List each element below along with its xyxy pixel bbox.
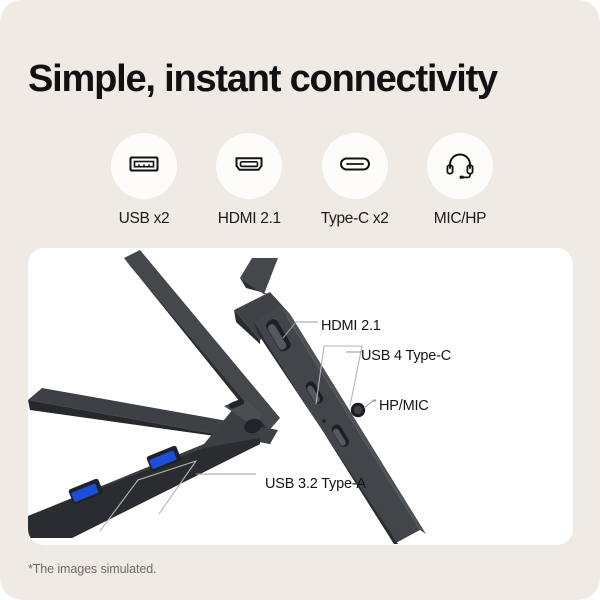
callout-label-hdmi: HDMI 2.1 xyxy=(321,318,381,334)
callout-label-usba: USB 3.2 Type-A xyxy=(265,476,366,492)
callout-label-hpmic: HP/MIC xyxy=(379,398,429,414)
laptop-left xyxy=(28,250,280,538)
feature-typec: Type-C x2 xyxy=(307,133,403,228)
feature-label-typec: Type-C x2 xyxy=(321,210,389,228)
product-photo-card xyxy=(28,248,573,545)
footnote-text: *The images simulated. xyxy=(28,562,156,576)
feature-michp: MIC/HP xyxy=(412,133,508,228)
laptop-ports-illustration xyxy=(28,248,573,545)
usb-c-port-icon xyxy=(335,144,375,189)
callout-label-usbc: USB 4 Type-C xyxy=(361,348,451,364)
headset-icon xyxy=(440,144,480,189)
feature-badge-usb xyxy=(111,133,177,199)
headphone-jack xyxy=(351,403,365,417)
feature-label-michp: MIC/HP xyxy=(434,210,486,228)
page-title: Simple, instant connectivity xyxy=(28,56,497,102)
feature-badge-michp xyxy=(427,133,493,199)
promo-page: Simple, instant connectivity USB x2 xyxy=(0,0,600,600)
usb-a-port-icon xyxy=(124,144,164,189)
feature-usb: USB x2 xyxy=(96,133,192,228)
feature-label-usb: USB x2 xyxy=(119,210,170,228)
feature-icon-row: USB x2 HDMI 2.1 xyxy=(96,133,508,228)
feature-hdmi: HDMI 2.1 xyxy=(201,133,297,228)
hdmi-port-icon xyxy=(229,144,269,189)
feature-badge-hdmi xyxy=(216,133,282,199)
feature-badge-typec xyxy=(322,133,388,199)
feature-label-hdmi: HDMI 2.1 xyxy=(218,210,281,228)
